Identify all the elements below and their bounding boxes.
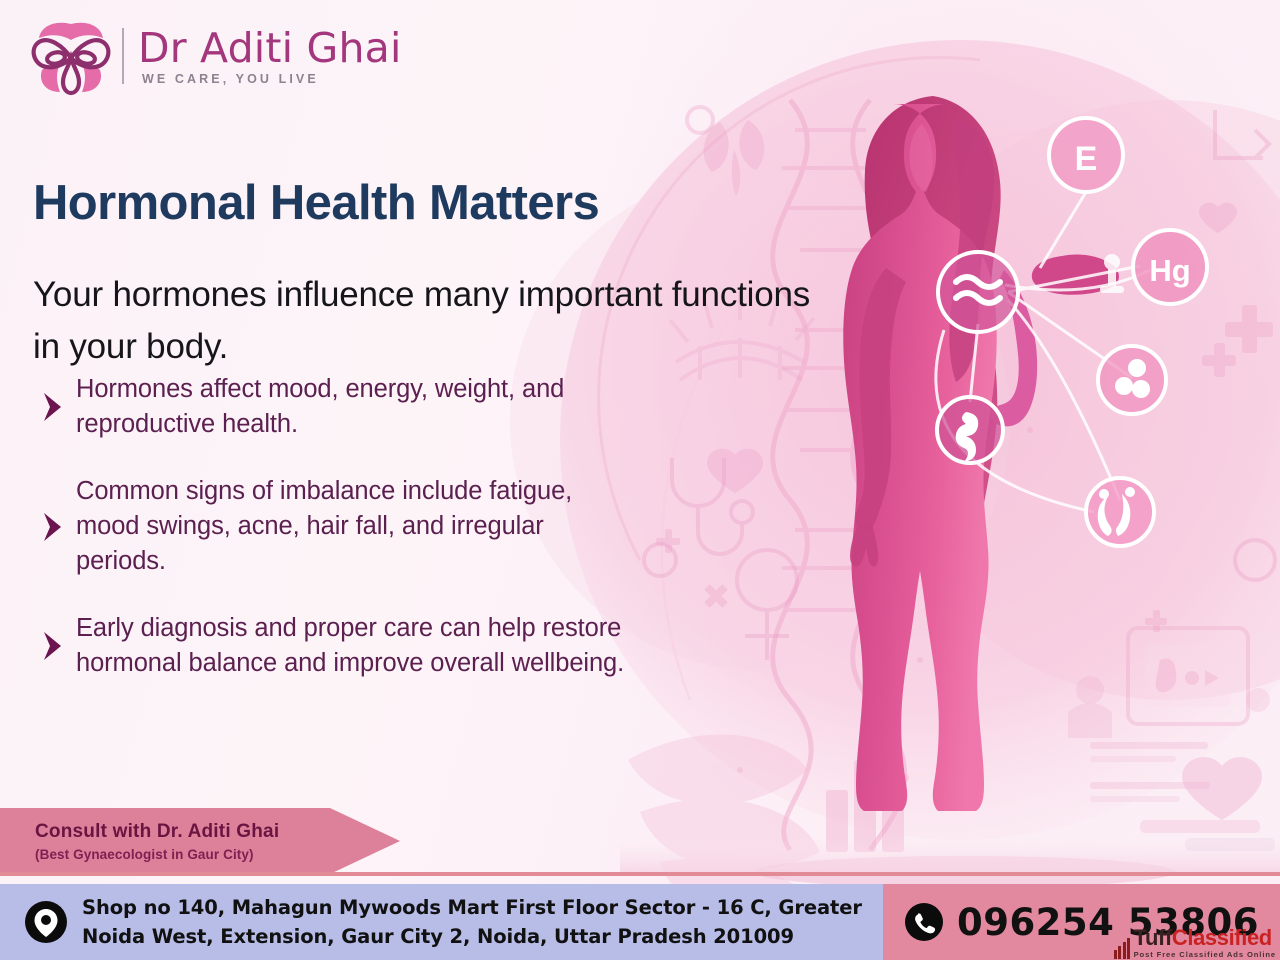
benefits-list: Hormones affect mood, energy, weight, an… — [30, 372, 640, 681]
list-item: Early diagnosis and proper care can help… — [30, 611, 640, 681]
chevron-right-icon — [30, 507, 76, 547]
list-item-label: Common signs of imbalance include fatigu… — [76, 474, 640, 579]
footer-bar: Shop no 140, Mahagun Mywoods Mart First … — [0, 884, 1280, 960]
logo-text-block: Dr Aditi Ghai WE CARE, YOU LIVE — [138, 26, 402, 86]
list-item: Hormones affect mood, energy, weight, an… — [30, 372, 640, 442]
bar-chart-icon — [1114, 937, 1132, 959]
footer-divider — [0, 872, 1280, 876]
logo-divider — [122, 28, 124, 84]
watermark-tagline: Post Free Classified Ads Online — [1134, 951, 1276, 959]
list-item-label: Early diagnosis and proper care can help… — [76, 611, 640, 681]
watermark-name-part1: Tuff — [1134, 925, 1172, 950]
poster-canvas: E Hg — [0, 0, 1280, 960]
uterus-butterfly-logo-icon — [28, 14, 114, 98]
chevron-right-icon — [30, 626, 76, 666]
tuffclassified-watermark[interactable]: TuffClassified Post Free Classified Ads … — [1114, 927, 1276, 959]
page-title: Hormonal Health Matters — [33, 174, 599, 232]
watermark-name-part2: Classified — [1172, 925, 1272, 950]
consult-ribbon-title: Consult with Dr. Aditi Ghai — [35, 821, 400, 843]
brand-name: Dr Aditi Ghai — [138, 26, 402, 70]
subheadline: Your hormones influence many important f… — [33, 269, 843, 373]
list-item-label: Hormones affect mood, energy, weight, an… — [76, 372, 640, 442]
location-pin-icon — [24, 900, 68, 944]
phone-section[interactable]: 096254 53806 TuffClassified Post Free Cl… — [883, 884, 1280, 960]
phone-icon — [904, 902, 944, 942]
consult-ribbon-subtitle: (Best Gynaecologist in Gaur City) — [35, 847, 400, 862]
clinic-address: Shop no 140, Mahagun Mywoods Mart First … — [82, 893, 883, 951]
brand-logo[interactable]: Dr Aditi Ghai WE CARE, YOU LIVE — [28, 14, 402, 98]
watermark-text: TuffClassified Post Free Classified Ads … — [1134, 927, 1276, 959]
consult-ribbon[interactable]: Consult with Dr. Aditi Ghai (Best Gynaec… — [0, 808, 400, 874]
brand-tagline: WE CARE, YOU LIVE — [138, 72, 402, 86]
list-item: Common signs of imbalance include fatigu… — [30, 474, 640, 579]
svg-text:Hg: Hg — [1149, 253, 1190, 288]
svg-text:E: E — [1075, 140, 1098, 178]
chevron-right-icon — [30, 387, 76, 427]
address-section: Shop no 140, Mahagun Mywoods Mart First … — [0, 884, 883, 960]
